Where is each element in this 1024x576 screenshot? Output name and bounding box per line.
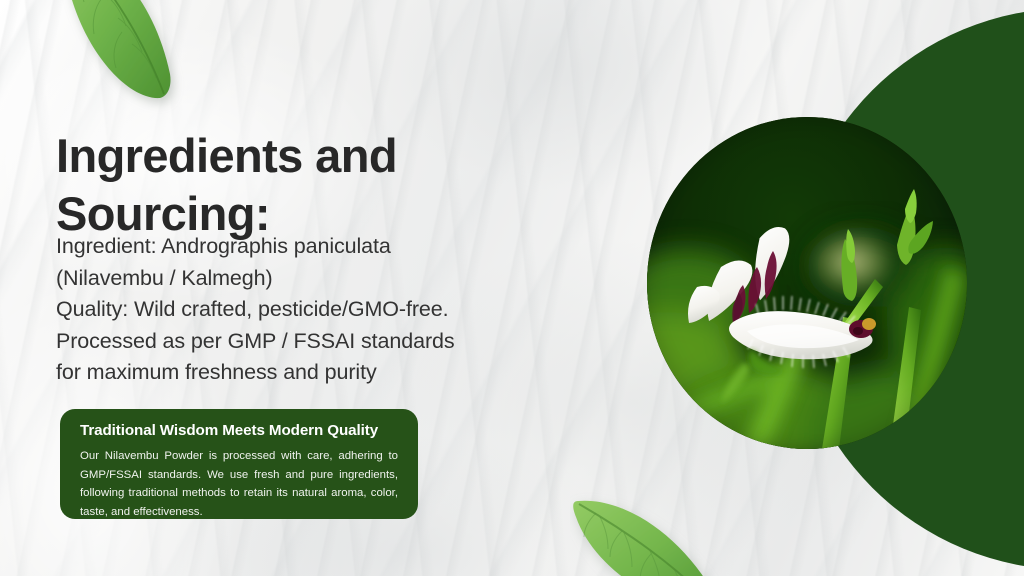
- flower-photo-circle: [647, 117, 967, 449]
- detail-line: for maximum freshness and purity: [56, 357, 526, 389]
- callout-title: Traditional Wisdom Meets Modern Quality: [80, 422, 398, 439]
- detail-line: (Nilavembu / Kalmegh): [56, 263, 526, 295]
- ingredient-details: Ingredient: Andrographis paniculata (Nil…: [56, 231, 526, 389]
- slide-canvas: Ingredients and Sourcing: Ingredient: An…: [0, 0, 1024, 576]
- quality-callout-card: Traditional Wisdom Meets Modern Quality …: [60, 409, 418, 519]
- detail-line: Quality: Wild crafted, pesticide/GMO-fre…: [56, 294, 526, 326]
- page-title-line-1: Ingredients and: [56, 129, 397, 182]
- page-title: Ingredients and Sourcing:: [56, 127, 576, 242]
- detail-line: Processed as per GMP / FSSAI standards: [56, 326, 526, 358]
- callout-body: Our Nilavembu Powder is processed with c…: [80, 447, 398, 521]
- detail-line: Ingredient: Andrographis paniculata: [56, 231, 526, 263]
- flower-photo-image: [647, 117, 967, 449]
